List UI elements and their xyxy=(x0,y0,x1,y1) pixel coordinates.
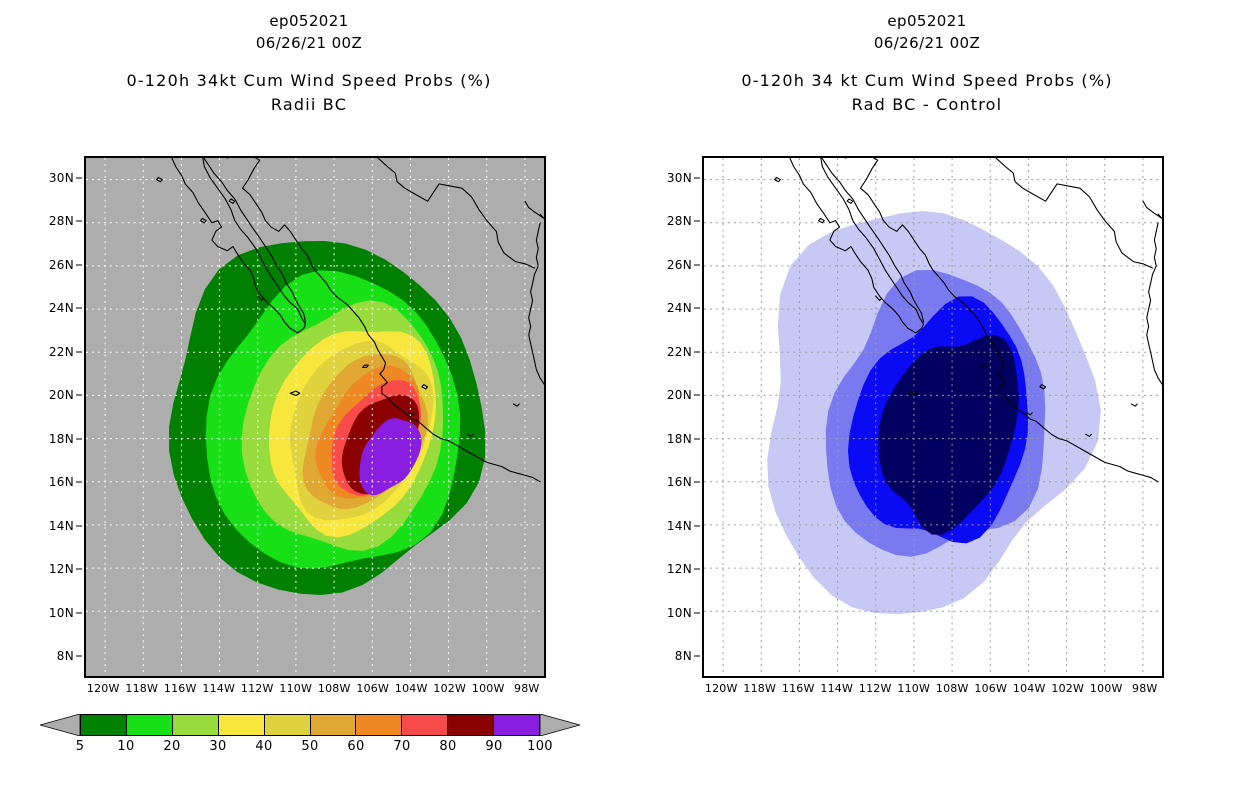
x-tick-label: 120W xyxy=(705,682,738,695)
x-tick-label: 112W xyxy=(859,682,892,695)
colorbar-tick-label: 10 xyxy=(117,739,134,754)
x-tick-label: 112W xyxy=(241,682,274,695)
x-tick-label: 110W xyxy=(279,682,312,695)
y-tick-mark xyxy=(76,395,82,396)
y-tick-mark xyxy=(694,308,700,309)
colorbar-tick-label: 30 xyxy=(209,739,226,754)
x-tick-label: 104W xyxy=(395,682,428,695)
left-chart-title: 0-120h 34kt Cum Wind Speed Probs (%) xyxy=(0,68,618,94)
left-x-axis-labels: 120W118W116W114W112W110W108W106W104W102W… xyxy=(84,680,546,702)
colorbar-tick-label: 90 xyxy=(485,739,502,754)
colorbar-band xyxy=(265,715,311,735)
colorbar-tick-label: 80 xyxy=(439,739,456,754)
y-tick-mark xyxy=(694,525,700,526)
y-tick-label: 30N xyxy=(49,171,74,185)
y-tick-label: 18N xyxy=(667,432,692,446)
left-y-axis-labels: 30N28N26N24N22N20N18N16N14N12N10N8N xyxy=(0,156,84,678)
left-map-clip xyxy=(86,158,544,676)
x-tick-label: 120W xyxy=(87,682,120,695)
x-tick-label: 98W xyxy=(514,682,539,695)
colorbar-band xyxy=(127,715,173,735)
y-tick-mark xyxy=(694,569,700,570)
y-tick-label: 14N xyxy=(667,519,692,533)
right-y-axis-labels: 30N28N26N24N22N20N18N16N14N12N10N8N xyxy=(618,156,702,678)
y-tick-mark xyxy=(694,612,700,613)
x-tick-label: 118W xyxy=(125,682,158,695)
left-chart-subtitle: Radii BC xyxy=(0,94,618,116)
y-tick-label: 22N xyxy=(49,345,74,359)
y-tick-label: 8N xyxy=(675,649,692,663)
colorbar-tick-label: 20 xyxy=(163,739,180,754)
y-tick-mark xyxy=(694,395,700,396)
right-map-clip xyxy=(704,158,1162,676)
x-tick-label: 104W xyxy=(1013,682,1046,695)
x-tick-label: 110W xyxy=(897,682,930,695)
y-tick-mark xyxy=(694,656,700,657)
colorbar-band xyxy=(356,715,402,735)
colorbar-band xyxy=(448,715,494,735)
y-tick-mark xyxy=(76,569,82,570)
right-chart-subtitle: Rad BC - Control xyxy=(618,94,1236,116)
x-tick-label: 118W xyxy=(743,682,776,695)
x-tick-label: 108W xyxy=(318,682,351,695)
y-tick-label: 18N xyxy=(49,432,74,446)
panel-radii-bc: ep052021 06/26/21 00Z 0-120h 34kt Cum Wi… xyxy=(0,0,618,800)
y-tick-mark xyxy=(76,612,82,613)
y-tick-label: 12N xyxy=(49,562,74,576)
y-tick-mark xyxy=(76,308,82,309)
y-tick-mark xyxy=(76,351,82,352)
y-tick-label: 10N xyxy=(49,606,74,620)
colorbar-band xyxy=(402,715,448,735)
x-tick-label: 116W xyxy=(164,682,197,695)
panel-rad-bc-minus-control: ep052021 06/26/21 00Z 0-120h 34 kt Cum W… xyxy=(618,0,1236,800)
right-storm-id: ep052021 xyxy=(618,10,1236,32)
y-tick-label: 20N xyxy=(667,388,692,402)
y-tick-label: 24N xyxy=(49,301,74,315)
y-tick-label: 14N xyxy=(49,519,74,533)
right-panel-titles: ep052021 06/26/21 00Z 0-120h 34 kt Cum W… xyxy=(618,0,1236,116)
right-chart-title: 0-120h 34 kt Cum Wind Speed Probs (%) xyxy=(618,68,1236,94)
y-tick-mark xyxy=(694,264,700,265)
left-valid-date: 06/26/21 00Z xyxy=(0,32,618,54)
left-colorbar-ticks: 5102030405060708090100 xyxy=(40,737,580,761)
y-tick-label: 20N xyxy=(49,388,74,402)
y-tick-label: 30N xyxy=(667,171,692,185)
left-map-plot[interactable] xyxy=(84,156,546,678)
y-tick-label: 8N xyxy=(57,649,74,663)
y-tick-mark xyxy=(694,482,700,483)
y-tick-label: 28N xyxy=(49,214,74,228)
colorbar-tick-label: 40 xyxy=(255,739,272,754)
colorbar-tick-label: 70 xyxy=(393,739,410,754)
y-tick-label: 24N xyxy=(667,301,692,315)
right-x-axis-labels: 120W118W116W114W112W110W108W106W104W102W… xyxy=(702,680,1164,702)
colorbar-tick-label: 5 xyxy=(76,739,85,754)
x-tick-label: 106W xyxy=(974,682,1007,695)
y-tick-label: 16N xyxy=(49,475,74,489)
right-valid-date: 06/26/21 00Z xyxy=(618,32,1236,54)
y-tick-label: 16N xyxy=(667,475,692,489)
y-tick-mark xyxy=(76,177,82,178)
x-tick-label: 114W xyxy=(202,682,235,695)
x-tick-label: 98W xyxy=(1132,682,1157,695)
left-map-graphic xyxy=(86,158,544,676)
x-tick-label: 106W xyxy=(356,682,389,695)
left-colorbar-row xyxy=(40,714,580,736)
y-tick-label: 10N xyxy=(667,606,692,620)
y-tick-mark xyxy=(76,221,82,222)
x-tick-label: 114W xyxy=(820,682,853,695)
y-tick-label: 28N xyxy=(667,214,692,228)
colorbar-band xyxy=(219,715,265,735)
left-colorbar-under-arrow xyxy=(40,714,80,736)
x-tick-label: 102W xyxy=(1051,682,1084,695)
colorbar-tick-label: 100 xyxy=(527,739,553,754)
y-tick-mark xyxy=(694,177,700,178)
left-colorbar-bands xyxy=(80,714,540,736)
colorbar-tick-label: 60 xyxy=(347,739,364,754)
y-tick-mark xyxy=(76,438,82,439)
colorbar-band xyxy=(81,715,127,735)
right-map-graphic xyxy=(704,158,1162,676)
right-map-plot[interactable] xyxy=(702,156,1164,678)
y-tick-mark xyxy=(76,656,82,657)
x-tick-label: 108W xyxy=(936,682,969,695)
y-tick-label: 26N xyxy=(49,258,74,272)
y-tick-label: 26N xyxy=(667,258,692,272)
y-tick-mark xyxy=(76,482,82,483)
colorbar-tick-label: 50 xyxy=(301,739,318,754)
y-tick-mark xyxy=(76,264,82,265)
y-tick-mark xyxy=(694,351,700,352)
y-tick-mark xyxy=(694,438,700,439)
x-tick-label: 100W xyxy=(472,682,505,695)
colorbar-band xyxy=(311,715,357,735)
x-tick-label: 116W xyxy=(782,682,815,695)
left-panel-titles: ep052021 06/26/21 00Z 0-120h 34kt Cum Wi… xyxy=(0,0,618,116)
x-tick-label: 100W xyxy=(1090,682,1123,695)
x-tick-label: 102W xyxy=(433,682,466,695)
chart-panels-container: ep052021 06/26/21 00Z 0-120h 34kt Cum Wi… xyxy=(0,0,1236,800)
y-tick-mark xyxy=(76,525,82,526)
y-tick-label: 12N xyxy=(667,562,692,576)
left-colorbar-over-arrow xyxy=(540,714,580,736)
colorbar-band xyxy=(173,715,219,735)
left-storm-id: ep052021 xyxy=(0,10,618,32)
y-tick-label: 22N xyxy=(667,345,692,359)
y-tick-mark xyxy=(694,221,700,222)
left-colorbar[interactable]: 5102030405060708090100 xyxy=(40,714,580,774)
colorbar-band xyxy=(494,715,539,735)
